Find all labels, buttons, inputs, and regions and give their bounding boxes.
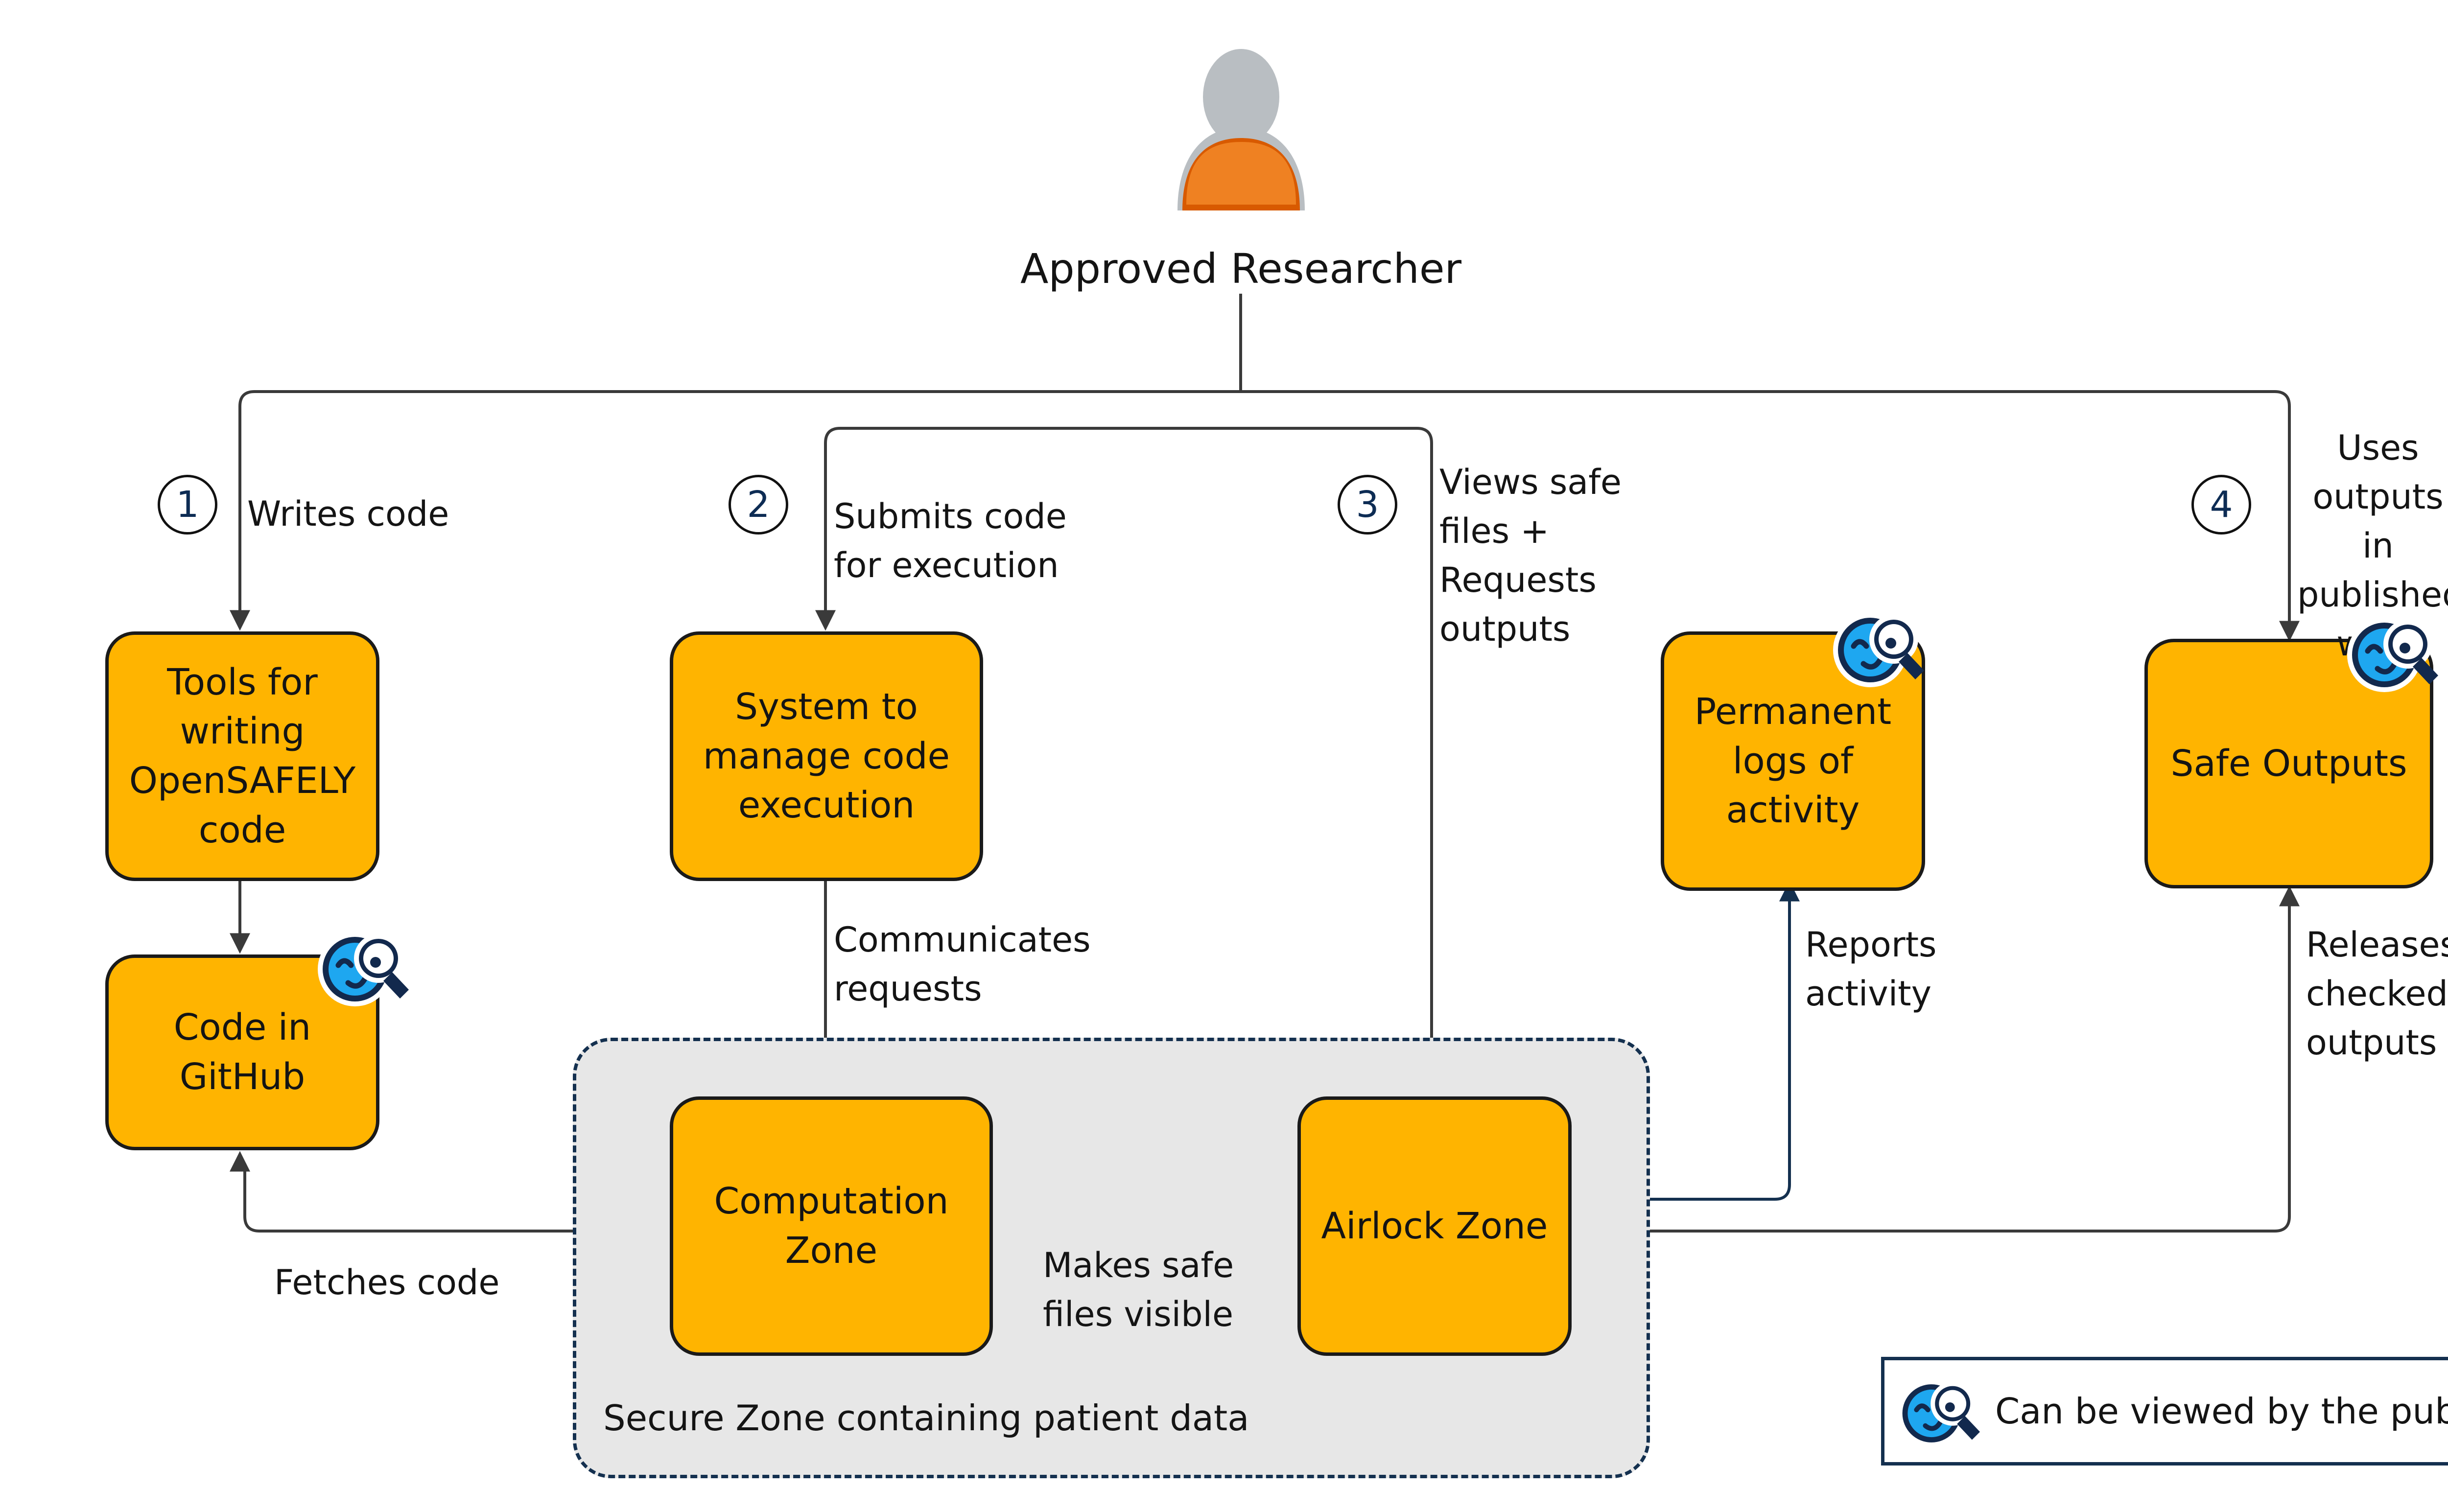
page-title: Approved Researcher (1010, 245, 1472, 293)
legend-label: Can be viewed by the public (1995, 1391, 2448, 1432)
node-tools-for-writing-code[interactable]: Tools for writing OpenSAFELY code (105, 631, 379, 881)
step-badge-2: 2 (729, 475, 788, 535)
step-badge-4: 4 (2191, 475, 2251, 535)
legend-public-viewable: Can be viewed by the public (1881, 1357, 2448, 1465)
step-label-1: Writes code (247, 489, 449, 538)
public-eye-icon (1831, 601, 1929, 694)
approved-researcher-avatar (1168, 49, 1315, 210)
step-label-3: Views safe files + Requests outputs (1439, 458, 1622, 653)
public-eye-icon (316, 920, 414, 1013)
node-computation-zone[interactable]: Computation Zone (670, 1096, 993, 1356)
diagram-canvas: Approved Researcher 1 2 3 4 Writes code … (0, 0, 2448, 1512)
step-badge-3: 3 (1338, 475, 1397, 535)
node-airlock-zone[interactable]: Airlock Zone (1297, 1096, 1572, 1356)
step-label-2: Submits code for execution (834, 492, 1067, 590)
public-eye-icon (1896, 1369, 1984, 1453)
public-eye-icon (2345, 606, 2443, 699)
edge-label-releases: Releases checked outputs (2306, 920, 2448, 1067)
edge-label-reports: Reports activity (1805, 920, 1937, 1018)
edge-label-fetches: Fetches code (274, 1258, 499, 1307)
secure-zone-label: Secure Zone containing patient data (603, 1397, 1249, 1439)
edge-label-makes-safe: Makes safe files visible (1043, 1241, 1234, 1339)
edge-label-communicates: Communicates requests (834, 915, 1091, 1013)
step-badge-1: 1 (158, 475, 217, 535)
node-system-to-manage-code-execution[interactable]: System to manage code execution (670, 631, 983, 881)
